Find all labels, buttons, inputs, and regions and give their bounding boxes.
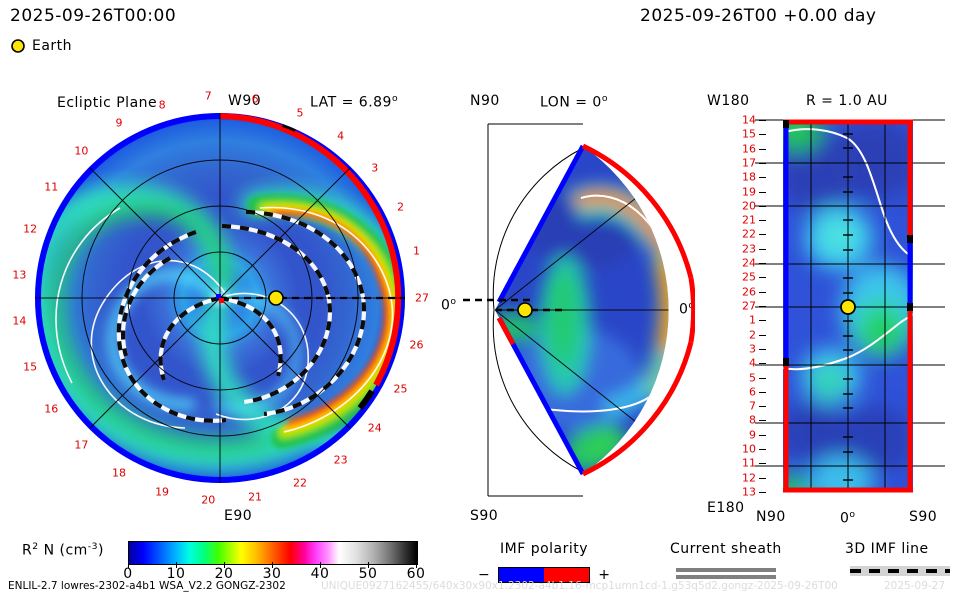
imf-line-swatch	[850, 566, 950, 576]
colorbar-label: R2 N (cm-3)	[22, 541, 104, 559]
panel3-ytick: 15	[742, 128, 756, 141]
panel1-carrington-tick: 4	[337, 129, 344, 142]
colorbar-gradient	[128, 541, 418, 565]
panel2-meridional-plot	[455, 110, 695, 510]
panel3-1au-map	[755, 110, 945, 502]
panel3-title: R = 1.0 AU	[806, 93, 888, 109]
earth-icon	[10, 38, 26, 54]
panel1-carrington-tick: 24	[368, 421, 382, 434]
panel1-carrington-tick: 14	[12, 315, 26, 328]
panel1-carrington-tick: 23	[334, 454, 348, 467]
panel1-carrington-tick: 25	[394, 382, 408, 395]
earth-marker-panel2	[518, 303, 532, 317]
panel3-ytick: 11	[742, 457, 756, 470]
panel3-ytick: 18	[742, 171, 756, 184]
earth-legend: Earth	[10, 38, 72, 54]
header-datetime-right: 2025-09-26T00 +0.00 day	[640, 6, 876, 26]
panel1-bottom-axis-label: E90	[224, 508, 252, 524]
panel3-xtick-n90: N90	[756, 509, 786, 525]
panel1-carrington-tick: 12	[23, 222, 37, 235]
panel1-carrington-tick: 2	[397, 201, 404, 214]
footer-watermark: UNIQUE0927162455/640x30x90x1.2302-a4b1.1…	[321, 580, 838, 592]
panel3-ytick: 16	[742, 142, 756, 155]
panel1-carrington-tick: 18	[112, 466, 126, 479]
panel1-carrington-labels: 2726252423222120191817161514131211109876…	[20, 108, 440, 508]
imf-polarity-title: IMF polarity	[500, 541, 588, 557]
earth-legend-label: Earth	[32, 38, 72, 54]
panel1-carrington-tick: 7	[205, 90, 212, 103]
current-sheath-swatch	[676, 568, 776, 579]
panel3-ytick: 24	[742, 257, 756, 270]
panel3-ytick: 14	[742, 114, 756, 127]
panel1-carrington-tick: 3	[371, 162, 378, 175]
panel1-carrington-tick: 15	[23, 361, 37, 374]
imf-line-title: 3D IMF line	[845, 541, 929, 557]
panel1-carrington-tick: 17	[74, 438, 88, 451]
panel1-carrington-tick: 8	[159, 98, 166, 111]
panel1-carrington-tick: 19	[155, 485, 169, 498]
panel1-carrington-tick: 1	[413, 245, 420, 258]
panel3-corner-top-label: W180	[707, 93, 750, 109]
panel3-ytick-labels: 1415161718192021222324252627123456789101…	[700, 110, 760, 502]
panel3-ytick: 13	[742, 486, 756, 499]
panel1-carrington-tick: 5	[297, 106, 304, 119]
panel2-top-axis-label: N90	[470, 93, 500, 109]
panel1-carrington-tick: 21	[248, 490, 262, 503]
panel1-carrington-tick: 22	[293, 477, 307, 490]
panel3-ytick: 23	[742, 242, 756, 255]
panel1-carrington-tick: 20	[201, 493, 215, 506]
panel1-carrington-tick: 6	[252, 93, 259, 106]
panel3-ytick: 27	[742, 300, 756, 313]
panel3-ytick: 26	[742, 285, 756, 298]
panel3-ytick: 12	[742, 471, 756, 484]
panel1-carrington-tick: 11	[44, 180, 58, 193]
panel2-lon-annotation: LON = 0o	[540, 93, 608, 111]
panel1-lat-unit: o	[392, 93, 398, 104]
footer-watermark-date: 2025-09-27	[884, 580, 945, 592]
panel3-ytick: 17	[742, 156, 756, 169]
panel1-carrington-tick: 26	[410, 338, 424, 351]
current-sheath-title: Current sheath	[670, 541, 782, 557]
panel3-xtick-zero: 0o	[840, 509, 856, 527]
header-datetime-left: 2025-09-26T00:00	[10, 6, 176, 26]
panel2-lon-unit: o	[602, 93, 608, 104]
panel1-carrington-tick: 13	[12, 268, 26, 281]
panel2-lon-text: LON = 0	[540, 95, 602, 111]
panel3-ytick: 20	[742, 199, 756, 212]
panel1-carrington-tick: 9	[116, 117, 123, 130]
panel3-ytick: 10	[742, 443, 756, 456]
panel3-ytick: 22	[742, 228, 756, 241]
footer-credit: ENLIL-2.7 lowres-2302-a4b1 WSA_V2.2 GONG…	[8, 580, 286, 592]
panel3-ytick: 21	[742, 214, 756, 227]
panel3-ytick: 25	[742, 271, 756, 284]
panel2-bottom-axis-label: S90	[470, 508, 498, 524]
panel3-ytick: 19	[742, 185, 756, 198]
earth-marker-panel3	[841, 300, 855, 314]
panel1-carrington-tick: 16	[44, 403, 58, 416]
panel1-carrington-tick: 27	[415, 292, 429, 305]
panel3-xtick-s90: S90	[909, 509, 937, 525]
panel1-carrington-tick: 10	[74, 145, 88, 158]
panel3-corner-bottom-label: E180	[707, 500, 745, 516]
